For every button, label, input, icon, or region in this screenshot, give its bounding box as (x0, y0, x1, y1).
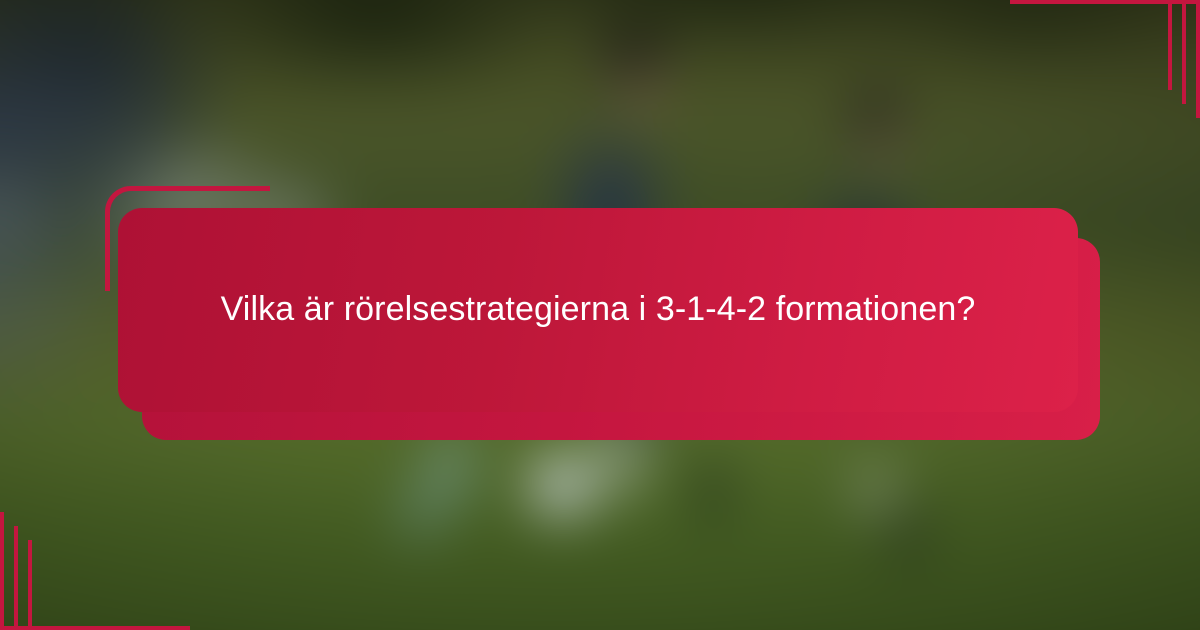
question-text: Vilka är rörelsestrategierna i 3-1-4-2 f… (125, 285, 1072, 334)
screenshot-canvas: Vilka är rörelsestrategierna i 3-1-4-2 f… (0, 0, 1200, 630)
question-card: Vilka är rörelsestrategierna i 3-1-4-2 f… (118, 208, 1078, 412)
